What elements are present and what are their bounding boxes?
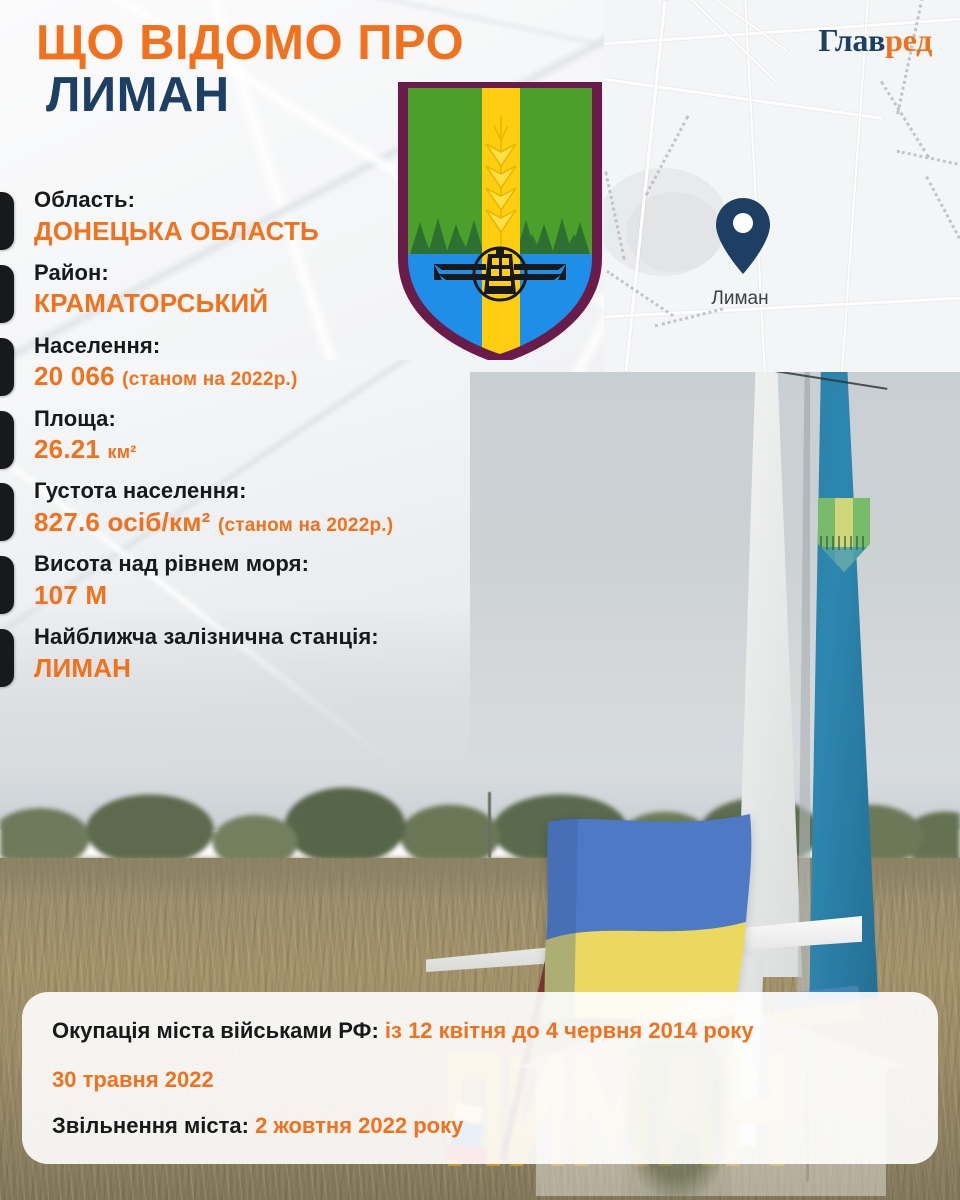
row-marker <box>0 265 14 323</box>
row-marker <box>0 483 14 541</box>
fact-value: 107 М <box>34 579 520 612</box>
caption-value: із 12 квітня до 4 червня 2014 року <box>385 1018 754 1043</box>
row-marker <box>0 411 14 469</box>
fact-label: Висота над рівнем моря: <box>34 550 520 579</box>
fact-label: Населення: <box>34 332 520 361</box>
fact-value-group: 20 066 (станом на 2022р.) <box>34 360 520 393</box>
caption-line-second-date: 30 травня 2022 <box>52 1069 908 1091</box>
fact-unit: км² <box>108 442 137 462</box>
row-marker <box>0 338 14 396</box>
fact-value: 26.21 <box>34 434 100 464</box>
infographic-canvas: Лиман ЩО ВІДОМО ПРО ЛИМАН Главред <box>0 0 960 1200</box>
logo-part-2: ред <box>885 22 932 58</box>
caption-label: Звільнення міста: <box>52 1113 249 1138</box>
fact-value: ДОНЕЦЬКА ОБЛАСТЬ <box>34 215 520 248</box>
caption-value: 30 травня 2022 <box>52 1067 214 1092</box>
logo-part-1: Глав <box>818 22 885 58</box>
fact-label: Район: <box>34 259 520 288</box>
title-line-1: ЩО ВІДОМО ПРО <box>36 18 556 70</box>
blue-pylon <box>800 360 878 998</box>
fact-label: Найближча залізнична станція: <box>34 623 520 652</box>
fact-row-area: Площа: 26.21 км² <box>0 405 520 478</box>
fact-value: 20 066 <box>34 361 115 391</box>
fact-value-group: 26.21 км² <box>34 433 520 466</box>
row-marker <box>0 629 14 687</box>
row-marker <box>0 556 14 614</box>
fact-row-population: Населення: 20 066 (станом на 2022р.) <box>0 332 520 405</box>
fact-label: Область: <box>34 186 520 215</box>
city-facts-list: Область: ДОНЕЦЬКА ОБЛАСТЬ Район: КРАМАТО… <box>0 186 520 696</box>
fact-value-group: 827.6 осіб/км² (станом на 2022р.) <box>34 506 520 539</box>
fact-value: ЛИМАН <box>34 652 520 685</box>
caption-line-occupation: Окупація міста військами РФ: із 12 квітн… <box>52 1020 908 1042</box>
fact-row-railway-station: Найближча залізнична станція: ЛИМАН <box>0 623 520 696</box>
fact-row-density: Густота населення: 827.6 осіб/км² (стано… <box>0 477 520 550</box>
fact-note: (станом на 2022р.) <box>218 515 393 536</box>
map-pin-icon[interactable] <box>714 196 772 276</box>
fact-row-oblast: Область: ДОНЕЦЬКА ОБЛАСТЬ <box>0 186 520 259</box>
fact-label: Площа: <box>34 405 520 434</box>
fact-row-elevation: Висота над рівнем моря: 107 М <box>0 550 520 623</box>
fact-value: КРАМАТОРСЬКИЙ <box>34 287 520 320</box>
fact-row-raion: Район: КРАМАТОРСЬКИЙ <box>0 259 520 332</box>
row-marker <box>0 192 14 250</box>
caption-line-liberation: Звільнення міста: 2 жовтня 2022 року <box>52 1115 908 1137</box>
fact-value: 827.6 осіб/км² <box>34 507 211 537</box>
map-city-label: Лиман <box>670 288 810 310</box>
glavred-logo[interactable]: Главред <box>818 22 932 59</box>
fact-note: (станом на 2022р.) <box>122 369 297 390</box>
fact-label: Густота населення: <box>34 477 520 506</box>
caption-label: Окупація міста військами РФ: <box>52 1018 379 1043</box>
caption-value: 2 жовтня 2022 року <box>255 1113 463 1138</box>
occupation-liberation-caption: Окупація міста військами РФ: із 12 квітн… <box>22 992 938 1164</box>
